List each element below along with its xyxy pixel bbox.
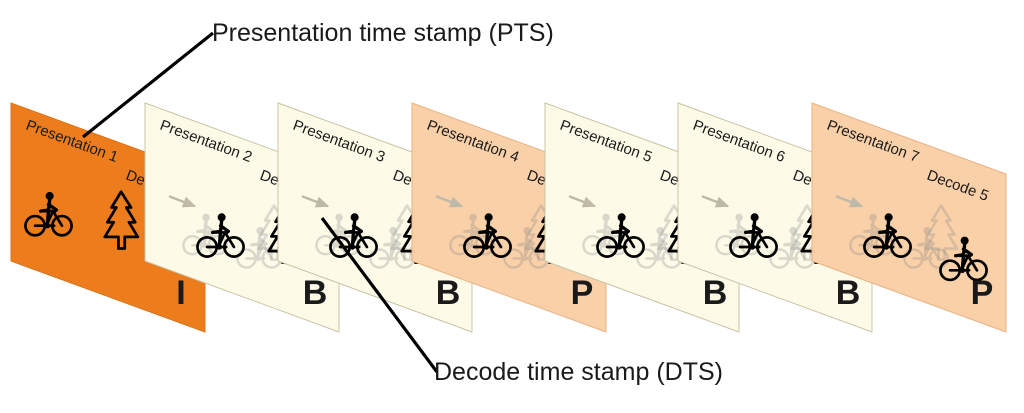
frame-type-label: B [436,274,461,312]
dts-callout-label: Decode time stamp (DTS) [434,358,723,387]
frame-type-label: P [971,274,994,312]
frame-type-label: B [703,274,728,312]
frame-type-label: I [176,274,185,312]
frame-type-label: P [571,274,594,312]
pts-callout-label: Presentation time stamp (PTS) [212,19,554,48]
frame-type-label: B [836,274,861,312]
frame-stack-diagram: Presentation 1Decode 1IPresentation 2Dec… [0,0,1024,413]
frame-type-label: B [303,274,328,312]
diagram-canvas: Presentation 1Decode 1IPresentation 2Dec… [0,0,1024,413]
video-frame-stack: Presentation 1Decode 1IPresentation 2Dec… [11,103,1006,332]
